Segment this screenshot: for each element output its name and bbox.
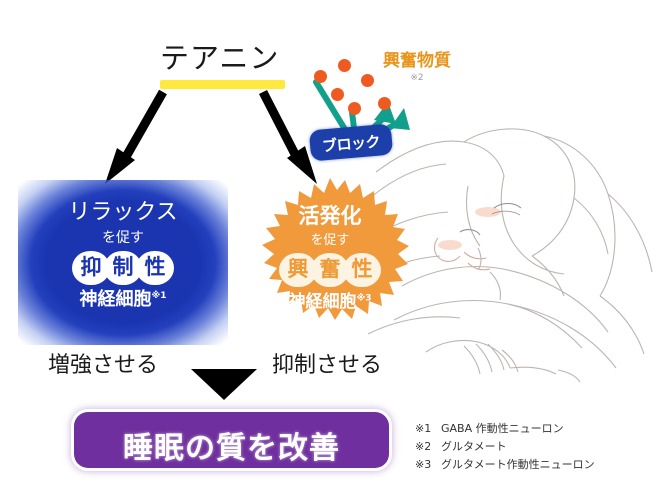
activate-line2: を促す	[250, 234, 410, 247]
inhibitory-note-mark: ※1	[151, 291, 166, 301]
footnote-mark: ※2	[415, 438, 441, 456]
footnotes: ※1GABA 作動性ニューロン ※2グルタメート ※3グルタメート作動性ニューロ…	[415, 420, 595, 474]
footnote-item: ※3グルタメート作動性ニューロン	[415, 456, 595, 474]
footnote-text: GABA 作動性ニューロン	[441, 422, 564, 435]
footnote-mark: ※3	[415, 456, 441, 474]
excitatory-dot	[348, 102, 361, 115]
footnote-item: ※2グルタメート	[415, 438, 595, 456]
result-banner: 睡眠の質を改善	[74, 412, 389, 468]
footnote-mark: ※1	[415, 420, 441, 438]
excitatory-dot	[314, 70, 327, 83]
page-title: テアニン	[160, 44, 279, 73]
left-effect-label: 増強させる	[48, 347, 158, 379]
branch-arrows	[95, 88, 325, 188]
infographic-canvas: 興奮物質 ※2 ブロック テアニン リラックス を促す 抑 制 性 神経細胞※	[0, 0, 670, 494]
excitatory-dot	[338, 59, 351, 72]
excitatory-neuron-node: 活発化 を促す 興 奮 性 神経細胞※3	[250, 178, 410, 346]
footnote-text: グルタメート作動性ニューロン	[441, 458, 595, 471]
excitatory-neuron-label: 神経細胞※3	[250, 294, 410, 311]
sleeping-woman-illustration	[368, 120, 670, 395]
result-banner-label: 睡眠の質を改善	[74, 423, 389, 467]
excitatory-substance-text: 興奮物質	[371, 52, 463, 71]
excitatory-dot	[378, 97, 391, 110]
relax-line1: リラックス	[18, 202, 228, 224]
footnote-text: グルタメート	[441, 440, 507, 453]
activate-line1: 活発化	[250, 206, 410, 227]
emphasis-char: 性	[343, 253, 381, 287]
emphasis-char: 性	[136, 251, 174, 285]
right-effect-label: 抑制させる	[272, 347, 382, 379]
title-text: テアニン	[160, 44, 279, 73]
excitatory-emphasis: 興 奮 性	[250, 253, 410, 287]
inhibitory-neuron-label: 神経細胞※1	[18, 291, 228, 309]
inhibitory-emphasis: 抑 制 性	[18, 251, 228, 285]
inhibitory-neuron-node: リラックス を促す 抑 制 性 神経細胞※1	[18, 180, 228, 345]
excitatory-dot	[331, 88, 344, 101]
excitatory-note-mark: ※3	[356, 293, 371, 303]
excitatory-substance-label: 興奮物質 ※2	[371, 52, 463, 83]
excitatory-substance-note-mark: ※2	[371, 73, 463, 83]
footnote-item: ※1GABA 作動性ニューロン	[415, 420, 595, 438]
down-triangle-arrow	[191, 369, 257, 401]
relax-line2: を促す	[18, 231, 228, 245]
